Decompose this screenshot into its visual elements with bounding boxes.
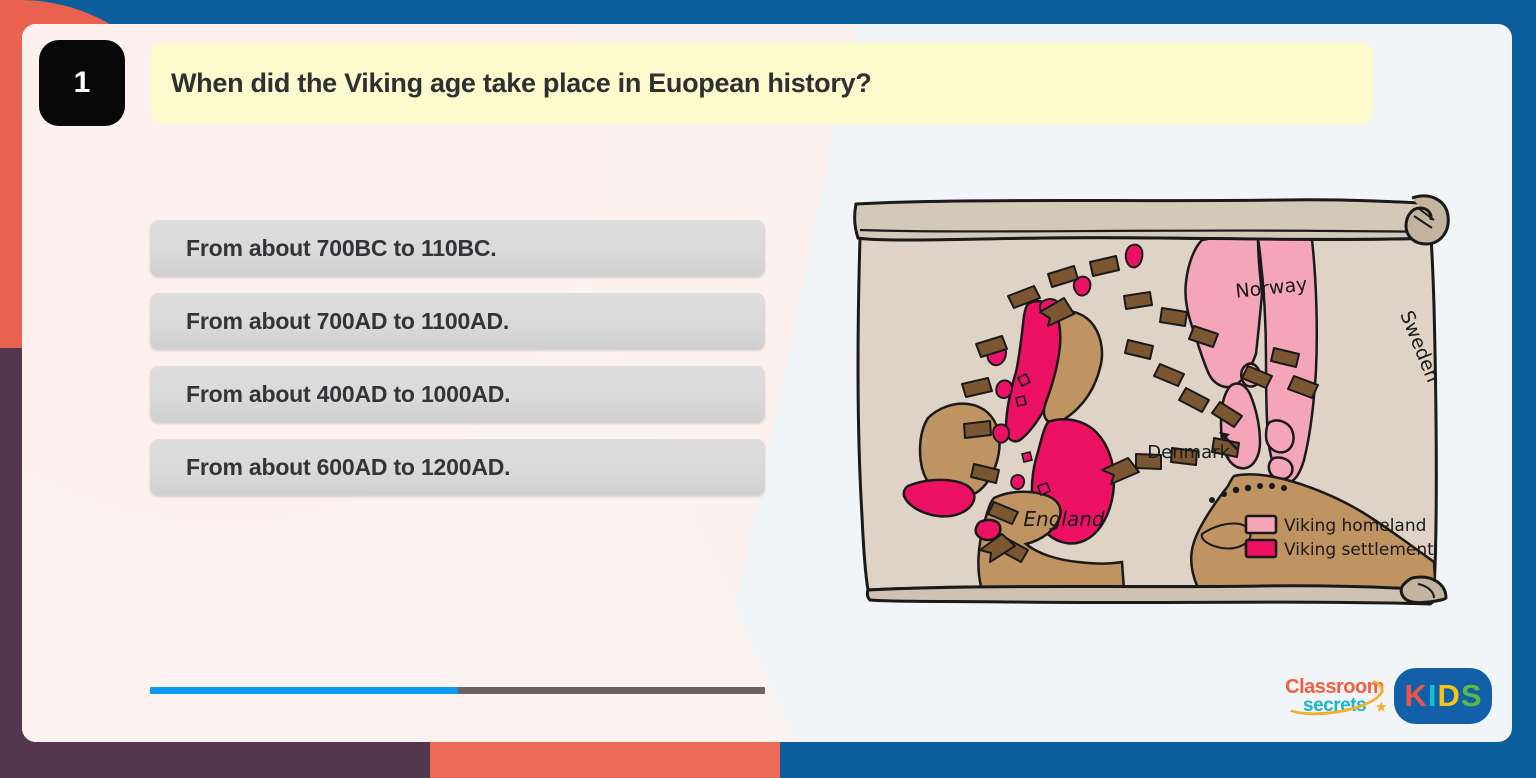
label-england: England xyxy=(1023,507,1104,531)
viking-map-svg: Norway Sweden Denmark England Viking h xyxy=(842,186,1452,606)
answer-option-d[interactable]: From about 600AD to 1200AD. xyxy=(150,439,765,495)
slide-root: 1 When did the Viking age take place in … xyxy=(0,0,1536,778)
kids-letter-s: S xyxy=(1461,678,1482,714)
question-number-badge: 1 xyxy=(39,40,125,126)
legend-label-settlement: Viking settlement xyxy=(1284,540,1434,560)
branding-logos: Classroom secrets ★ K I D S xyxy=(1285,668,1492,724)
kids-logo: K I D S xyxy=(1394,668,1492,724)
answer-option-a-label: From about 700BC to 110BC. xyxy=(150,235,496,262)
kids-letter-k: K xyxy=(1404,678,1426,714)
answer-option-c[interactable]: From about 400AD to 1000AD. xyxy=(150,366,765,422)
question-number-text: 1 xyxy=(74,66,91,100)
question-banner: When did the Viking age take place in Eu… xyxy=(151,42,1373,124)
scroll-bottom-right-curl xyxy=(1401,577,1446,602)
kids-letter-i: I xyxy=(1428,678,1437,714)
answer-option-c-label: From about 400AD to 1000AD. xyxy=(150,381,510,408)
answer-option-a[interactable]: From about 700BC to 110BC. xyxy=(150,220,765,276)
answer-option-d-label: From about 600AD to 1200AD. xyxy=(150,454,510,481)
slide-card: 1 When did the Viking age take place in … xyxy=(22,24,1512,742)
answer-option-b-label: From about 700AD to 1100AD. xyxy=(150,308,509,335)
scroll-top-roll xyxy=(855,200,1438,240)
classroom-secrets-logo: Classroom secrets ★ xyxy=(1285,677,1384,715)
progress-bar-track[interactable] xyxy=(150,687,765,694)
answer-options-list: From about 700BC to 110BC. From about 70… xyxy=(150,220,765,512)
viking-map-illustration: Norway Sweden Denmark England Viking h xyxy=(842,186,1452,606)
hebrides-settlement-3 xyxy=(993,424,1009,442)
question-text: When did the Viking age take place in Eu… xyxy=(151,68,871,99)
kids-letter-d: D xyxy=(1437,678,1459,714)
star-icon: ★ xyxy=(1375,700,1388,715)
legend-swatch-settlement xyxy=(1246,540,1276,557)
answer-option-b[interactable]: From about 700AD to 1100AD. xyxy=(150,293,765,349)
denmark-island-1 xyxy=(1266,420,1294,452)
small-isle-3 xyxy=(1022,452,1032,462)
faroe-settlement xyxy=(1126,245,1143,268)
small-isle-2 xyxy=(1016,396,1026,406)
hebrides-settlement-2 xyxy=(996,380,1012,398)
legend-swatch-homeland xyxy=(1246,516,1276,533)
legend-label-homeland: Viking homeland xyxy=(1284,516,1426,536)
progress-bar-fill xyxy=(150,687,458,694)
scroll-top-roll-line xyxy=(860,230,1432,232)
anglesey-settlement xyxy=(1011,475,1024,489)
label-denmark: Denmark xyxy=(1147,442,1230,463)
scroll-bottom-roll xyxy=(867,586,1434,604)
